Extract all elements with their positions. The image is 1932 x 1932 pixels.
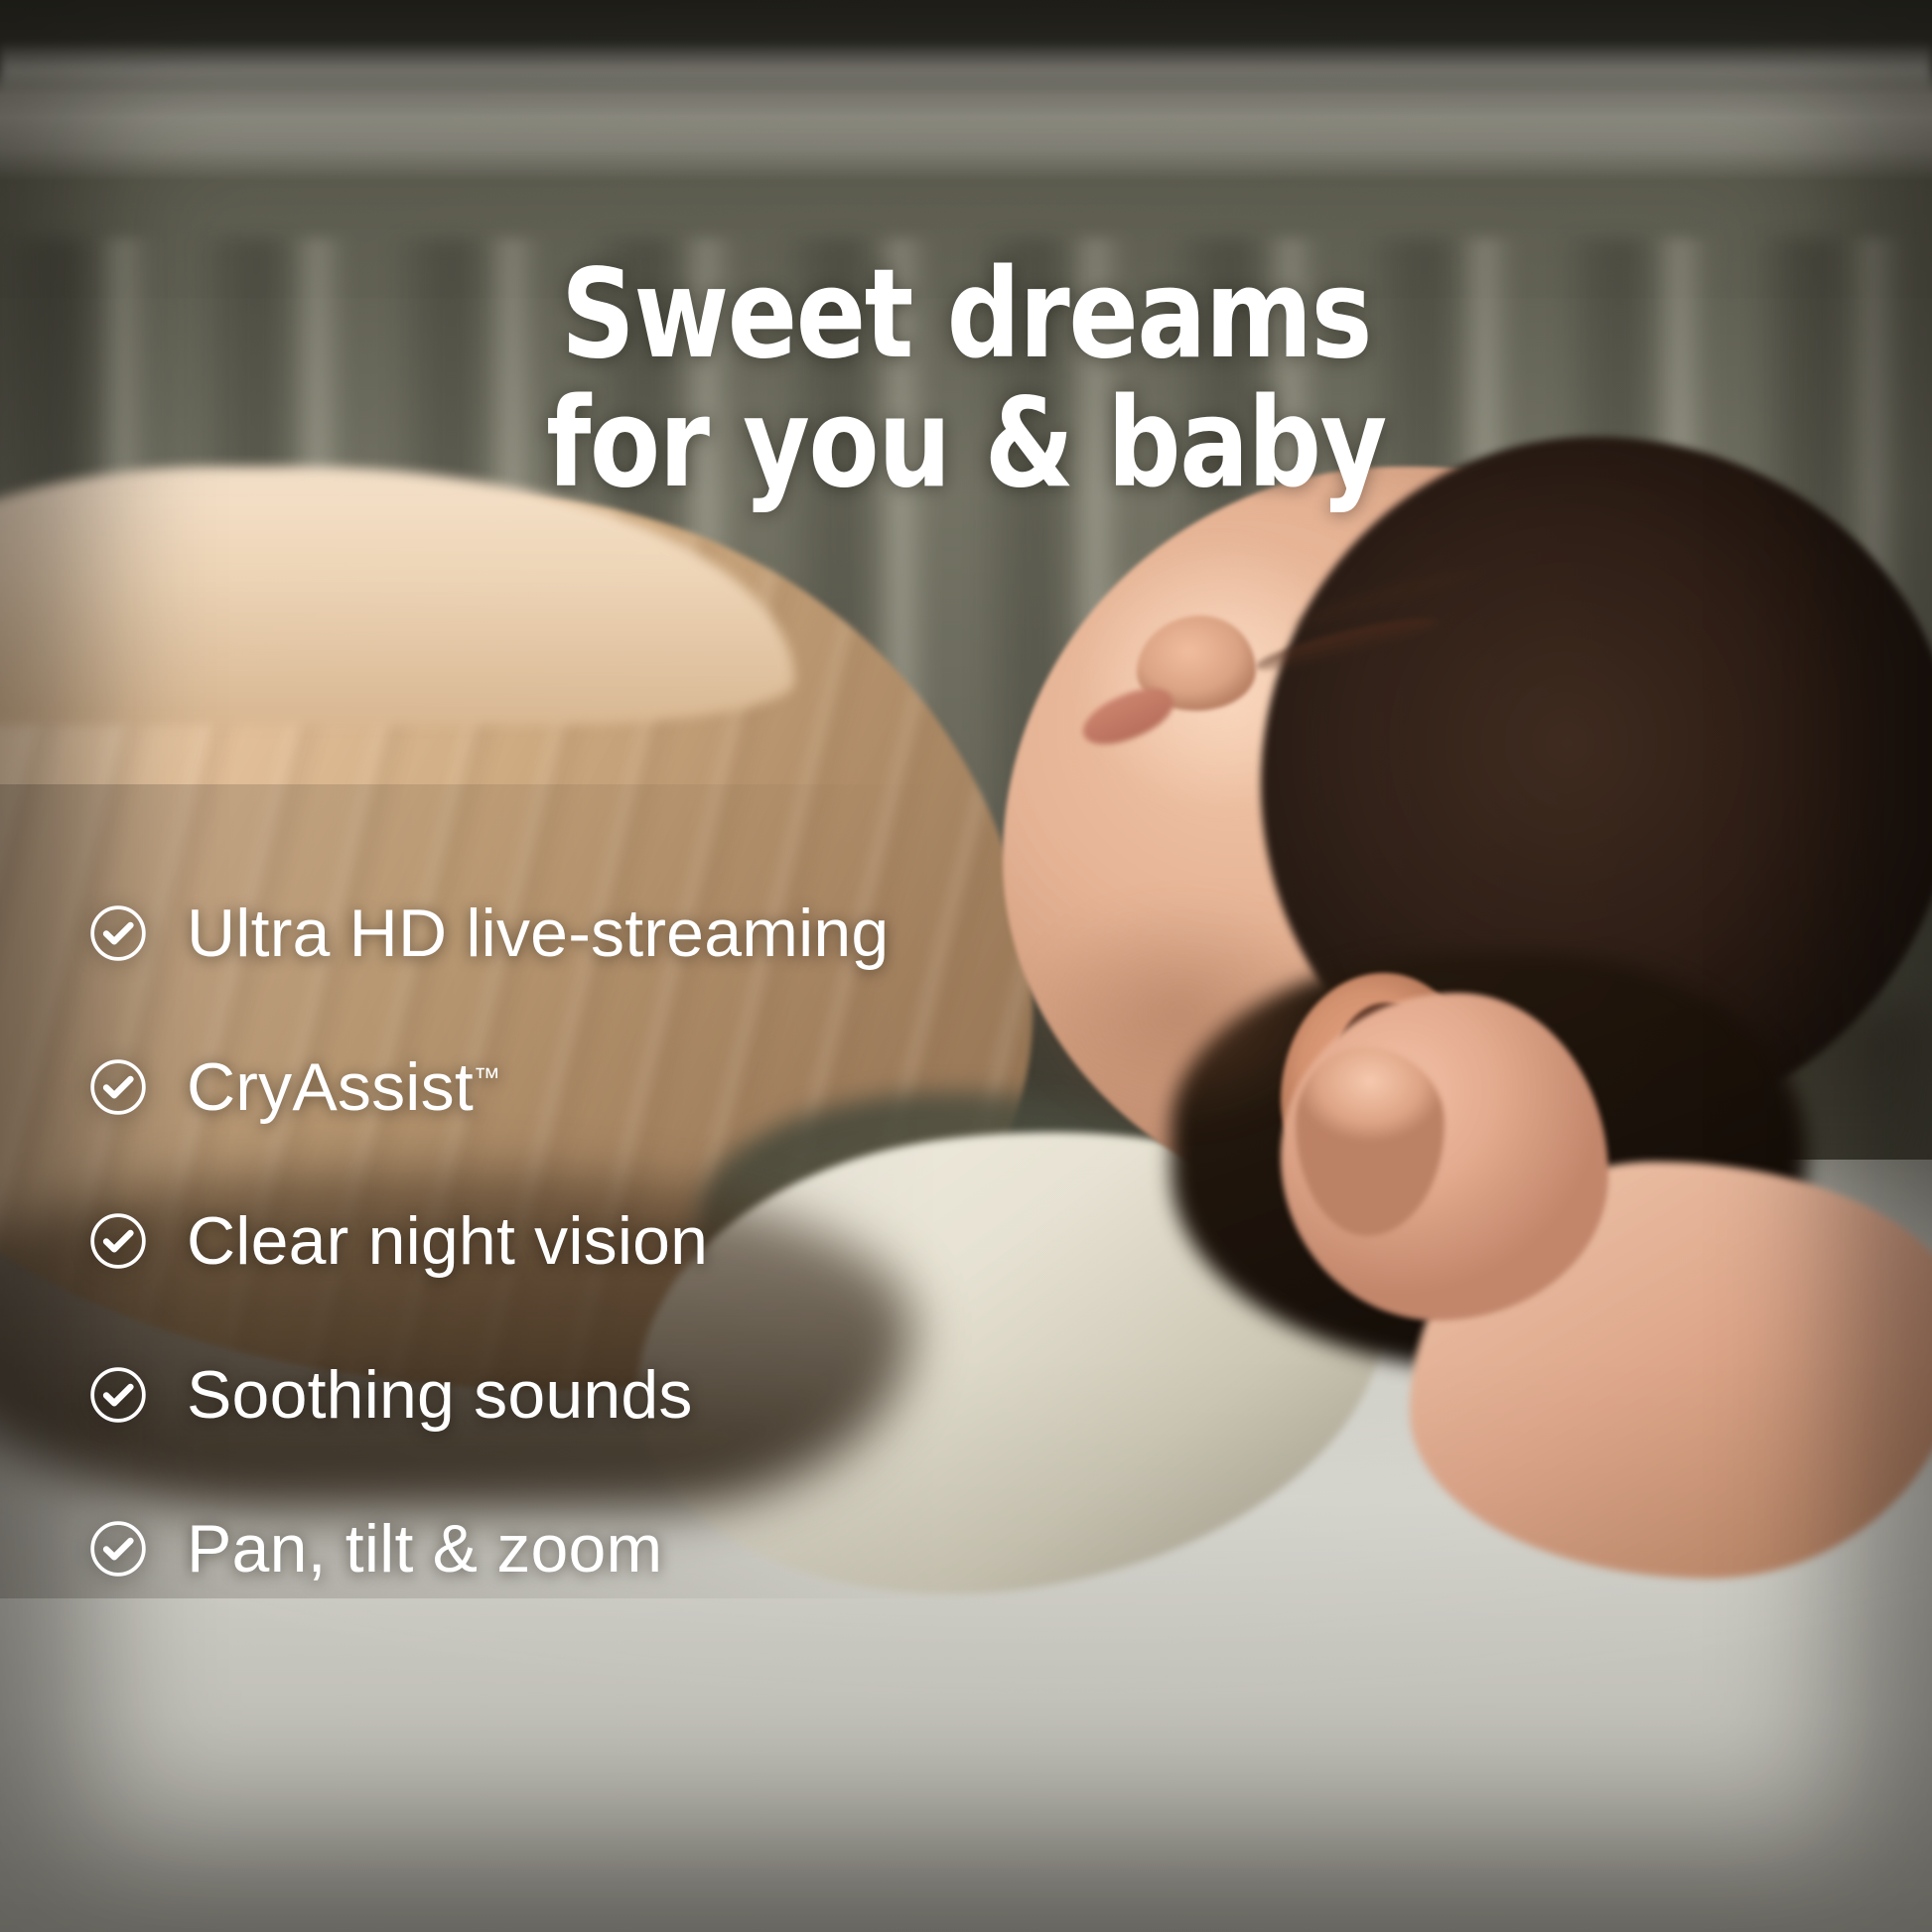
feature-label-text: CryAssist: [187, 1049, 474, 1125]
headline-line-2: for you & baby: [68, 379, 1864, 508]
feature-item-pan-tilt-zoom: Pan, tilt & zoom: [87, 1471, 1279, 1625]
check-circle-icon: [87, 1056, 149, 1118]
feature-item-cryassist: CryAssist™: [87, 1010, 1279, 1164]
feature-label: Ultra HD live-streaming: [187, 899, 889, 967]
check-circle-icon: [87, 902, 149, 964]
page-title: Sweet dreams for you & baby: [68, 250, 1864, 508]
check-circle-icon: [87, 1364, 149, 1426]
feature-item-night-vision: Clear night vision: [87, 1164, 1279, 1317]
product-feature-image: Sweet dreams for you & baby Ultra HD liv…: [0, 0, 1932, 1932]
check-circle-icon: [87, 1518, 149, 1580]
feature-item-ultra-hd: Ultra HD live-streaming: [87, 856, 1279, 1010]
feature-item-soothing-sounds: Soothing sounds: [87, 1317, 1279, 1471]
feature-label: Clear night vision: [187, 1207, 708, 1275]
trademark-symbol: ™: [474, 1061, 500, 1092]
feature-label: Soothing sounds: [187, 1361, 693, 1429]
feature-label: CryAssist™: [187, 1053, 500, 1121]
feature-label: Pan, tilt & zoom: [187, 1515, 662, 1583]
feature-list: Ultra HD live-streaming CryAssist™ Clear…: [87, 856, 1279, 1625]
check-circle-icon: [87, 1210, 149, 1272]
text-overlay: Sweet dreams for you & baby Ultra HD liv…: [0, 0, 1932, 1932]
headline-line-1: Sweet dreams: [68, 250, 1864, 379]
